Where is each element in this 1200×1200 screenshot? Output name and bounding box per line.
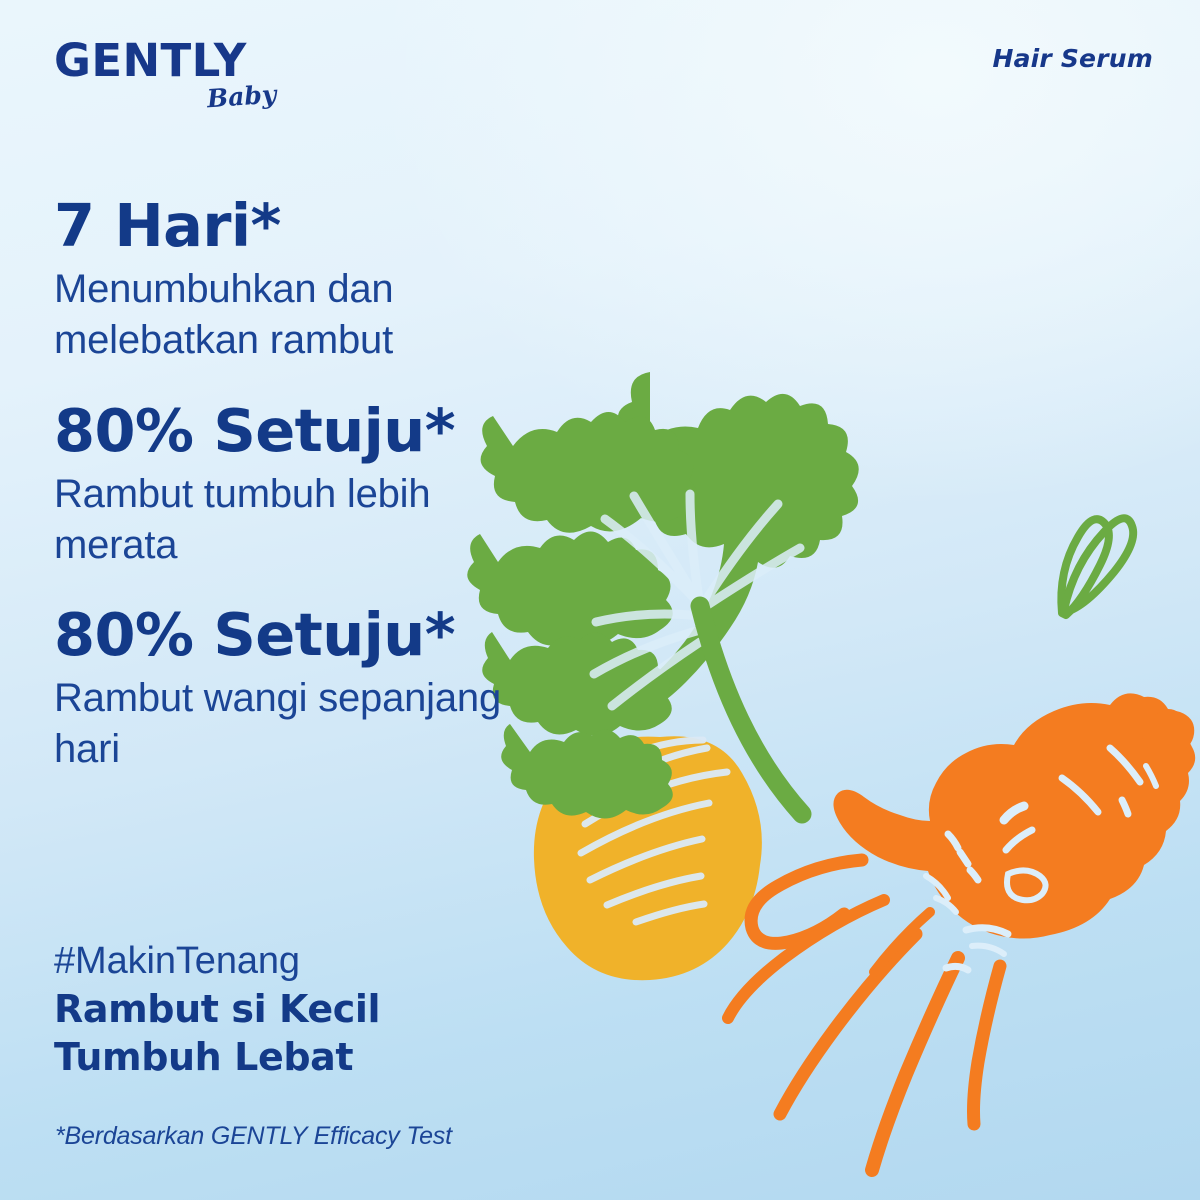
leaf-vein-cuts-icon [594, 494, 800, 706]
claim-body: Rambut wangi sepanjang hari [54, 673, 524, 775]
brand-name: GENTLY [54, 38, 284, 83]
leaf-stem-icon [700, 606, 802, 814]
small-green-sprig-icon [1061, 518, 1133, 615]
poster-canvas: GENTLY Baby Hair Serum 7 Hari* Menumbuhk… [0, 0, 1200, 1200]
claim-headline: 7 Hari* [54, 196, 614, 256]
brand-sub-name: Baby [206, 80, 277, 114]
tagline-block: #MakinTenang Rambut si Kecil Tumbuh Leba… [54, 938, 614, 1082]
claim-headline: 80% Setuju* [54, 401, 614, 461]
brand-logo[interactable]: GENTLY Baby [54, 38, 284, 124]
campaign-hashtag[interactable]: #MakinTenang [54, 938, 614, 984]
orange-carrot-icon [728, 693, 1195, 1170]
claim-body: Menumbuhkan dan melebatkan rambut [54, 264, 524, 366]
claim-body: Rambut tumbuh lebih merata [54, 469, 524, 571]
claim-item: 80% Setuju* Rambut wangi sepanjang hari [54, 605, 614, 776]
disclaimer-text: *Berdasarkan GENTLY Efficacy Test [55, 1122, 452, 1151]
campaign-tagline: Rambut si Kecil Tumbuh Lebat [54, 986, 554, 1082]
product-category-label: Hair Serum [992, 44, 1153, 73]
claim-item: 80% Setuju* Rambut tumbuh lebih merata [54, 401, 614, 572]
claim-item: 7 Hari* Menumbuhkan dan melebatkan rambu… [54, 196, 614, 367]
claims-list: 7 Hari* Menumbuhkan dan melebatkan rambu… [54, 196, 614, 810]
claim-headline: 80% Setuju* [54, 605, 614, 665]
